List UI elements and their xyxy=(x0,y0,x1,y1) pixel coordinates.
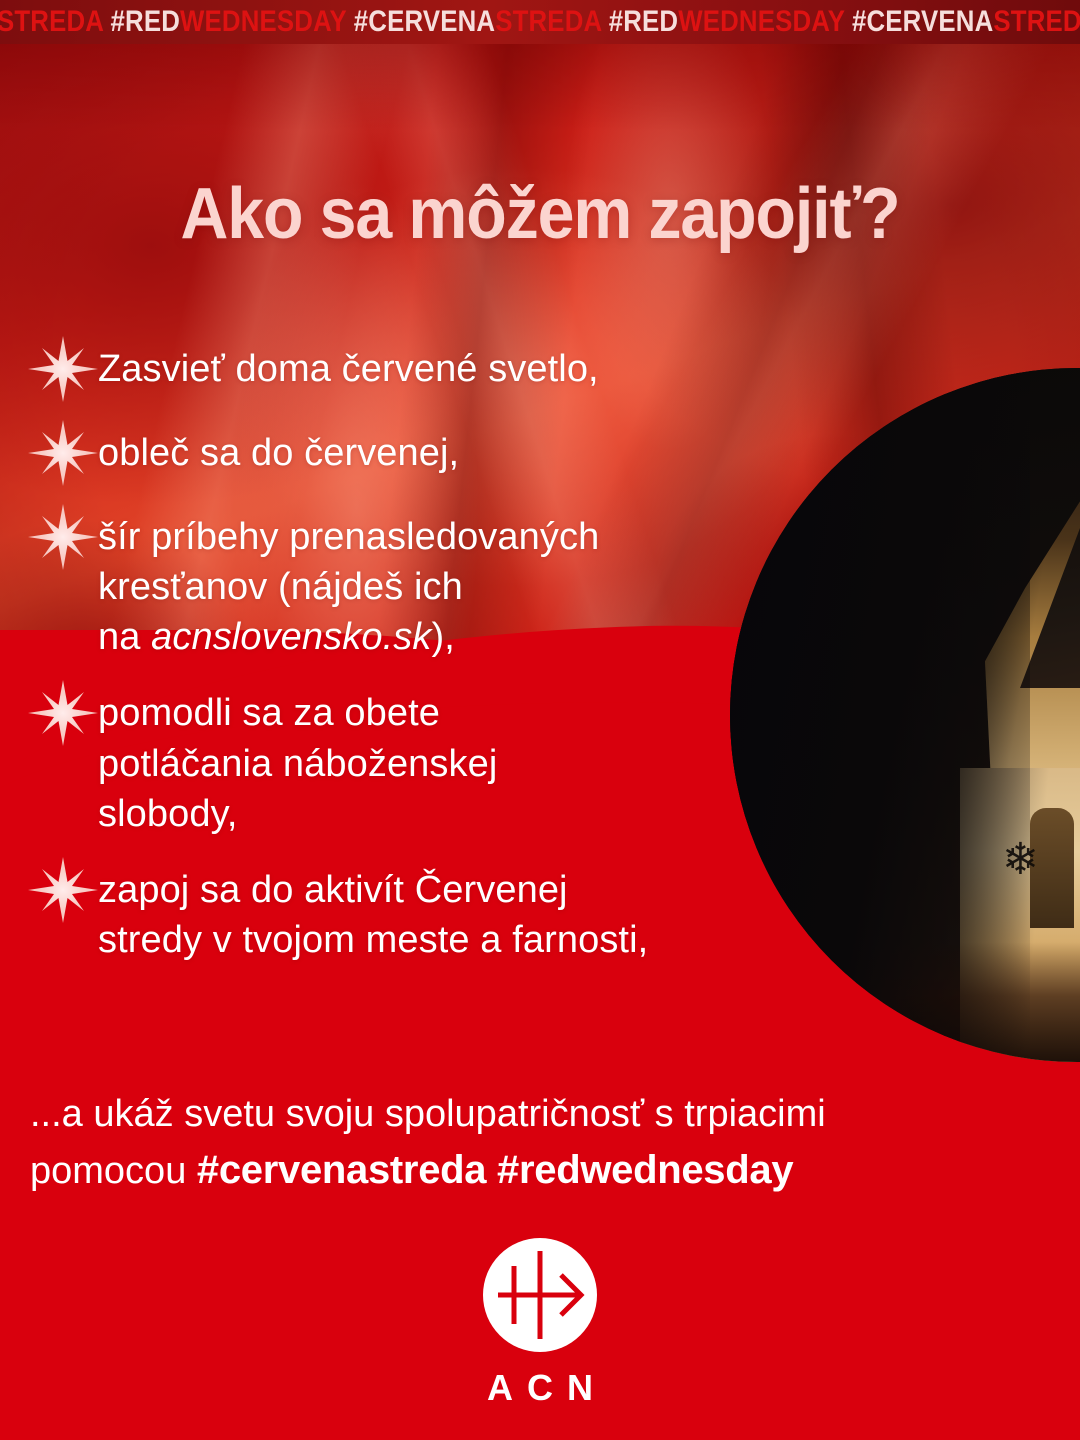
hashtag-ticker-text: ENASTREDA #REDWEDNESDAY #CERVENASTREDA #… xyxy=(0,7,1080,37)
closing-statement: ...a ukáž svetu svoju spolupatričnosť s … xyxy=(30,1088,1050,1199)
list-item-line: zapoj sa do aktivít Červenej xyxy=(98,865,648,915)
hashtag-segment: STREDA xyxy=(495,5,608,38)
campaign-hashtags: #cervenastreda #redwednesday xyxy=(197,1148,793,1192)
closing-line-2: pomocou #cervenastreda #redwednesday xyxy=(30,1142,1050,1199)
list-item: zapoj sa do aktivít Červenejstredy v tvo… xyxy=(28,861,828,965)
closing-line-2-prefix: pomocou xyxy=(30,1150,186,1192)
hashtag-segment: #CERVENA xyxy=(354,5,495,38)
list-item-label: pomodli sa za obetepotláčania náboženske… xyxy=(98,684,497,838)
list-item: obleč sa do červenej, xyxy=(28,424,828,486)
hashtag-ticker-strip: ENASTREDA #REDWEDNESDAY #CERVENASTREDA #… xyxy=(0,0,1080,44)
sparkle-star-icon xyxy=(28,857,98,923)
list-item-line: Zasvieť doma červené svetlo, xyxy=(98,344,599,394)
list-item-label: obleč sa do červenej, xyxy=(98,424,459,478)
sparkle-star-icon xyxy=(28,680,98,746)
hashtag-segment: #CERVENA xyxy=(852,5,993,38)
list-item: pomodli sa za obetepotláčania náboženske… xyxy=(28,684,828,838)
list-item-label: zapoj sa do aktivít Červenejstredy v tvo… xyxy=(98,861,648,965)
hashtag-segment: WEDNESDAY xyxy=(180,5,354,38)
list-item-line: na acnslovensko.sk), xyxy=(98,612,599,662)
list-item-line: stredy v tvojom meste a farnosti, xyxy=(98,915,648,965)
sparkle-star-icon xyxy=(28,504,98,570)
list-item-line: šír príbehy prenasledovaných xyxy=(98,512,599,562)
list-item-label: šír príbehy prenasledovanýchkresťanov (n… xyxy=(98,508,599,662)
page-title: Ako sa môžem zapojiť? xyxy=(43,178,1037,250)
list-item: Zasvieť doma červené svetlo, xyxy=(28,340,828,402)
list-item-line: potláčania náboženskej xyxy=(98,739,497,789)
hashtag-segment: WEDNESDAY xyxy=(678,5,852,38)
list-item-line: slobody, xyxy=(98,789,497,839)
hashtag-segment: #RED xyxy=(110,5,180,38)
list-item: šír príbehy prenasledovanýchkresťanov (n… xyxy=(28,508,828,662)
list-item-line: pomodli sa za obete xyxy=(98,688,497,738)
bullet-list: Zasvieť doma červené svetlo, obleč sa do… xyxy=(28,340,828,987)
sparkle-star-icon xyxy=(28,336,98,402)
hashtag-segment: #RED xyxy=(609,5,679,38)
acn-cross-arrow-icon xyxy=(483,1238,597,1352)
list-item-line: obleč sa do červenej, xyxy=(98,428,459,478)
acn-logo: ACN xyxy=(0,1238,1080,1409)
closing-line-1: ...a ukáž svetu svoju spolupatričnosť s … xyxy=(30,1088,1050,1142)
poster-canvas: ❄ ❄ ❄ ENASTREDA #REDWEDNESDAY #CERVENAST… xyxy=(0,0,1080,1440)
list-item-label: Zasvieť doma červené svetlo, xyxy=(98,340,599,394)
hashtag-segment: STREDA xyxy=(993,5,1080,38)
website-emphasis: acnslovensko.sk xyxy=(151,616,431,658)
list-item-line: kresťanov (nájdeš ich xyxy=(98,562,599,612)
sparkle-star-icon xyxy=(28,420,98,486)
acn-wordmark: ACN xyxy=(0,1367,1080,1409)
hashtag-segment: STREDA xyxy=(0,5,110,38)
